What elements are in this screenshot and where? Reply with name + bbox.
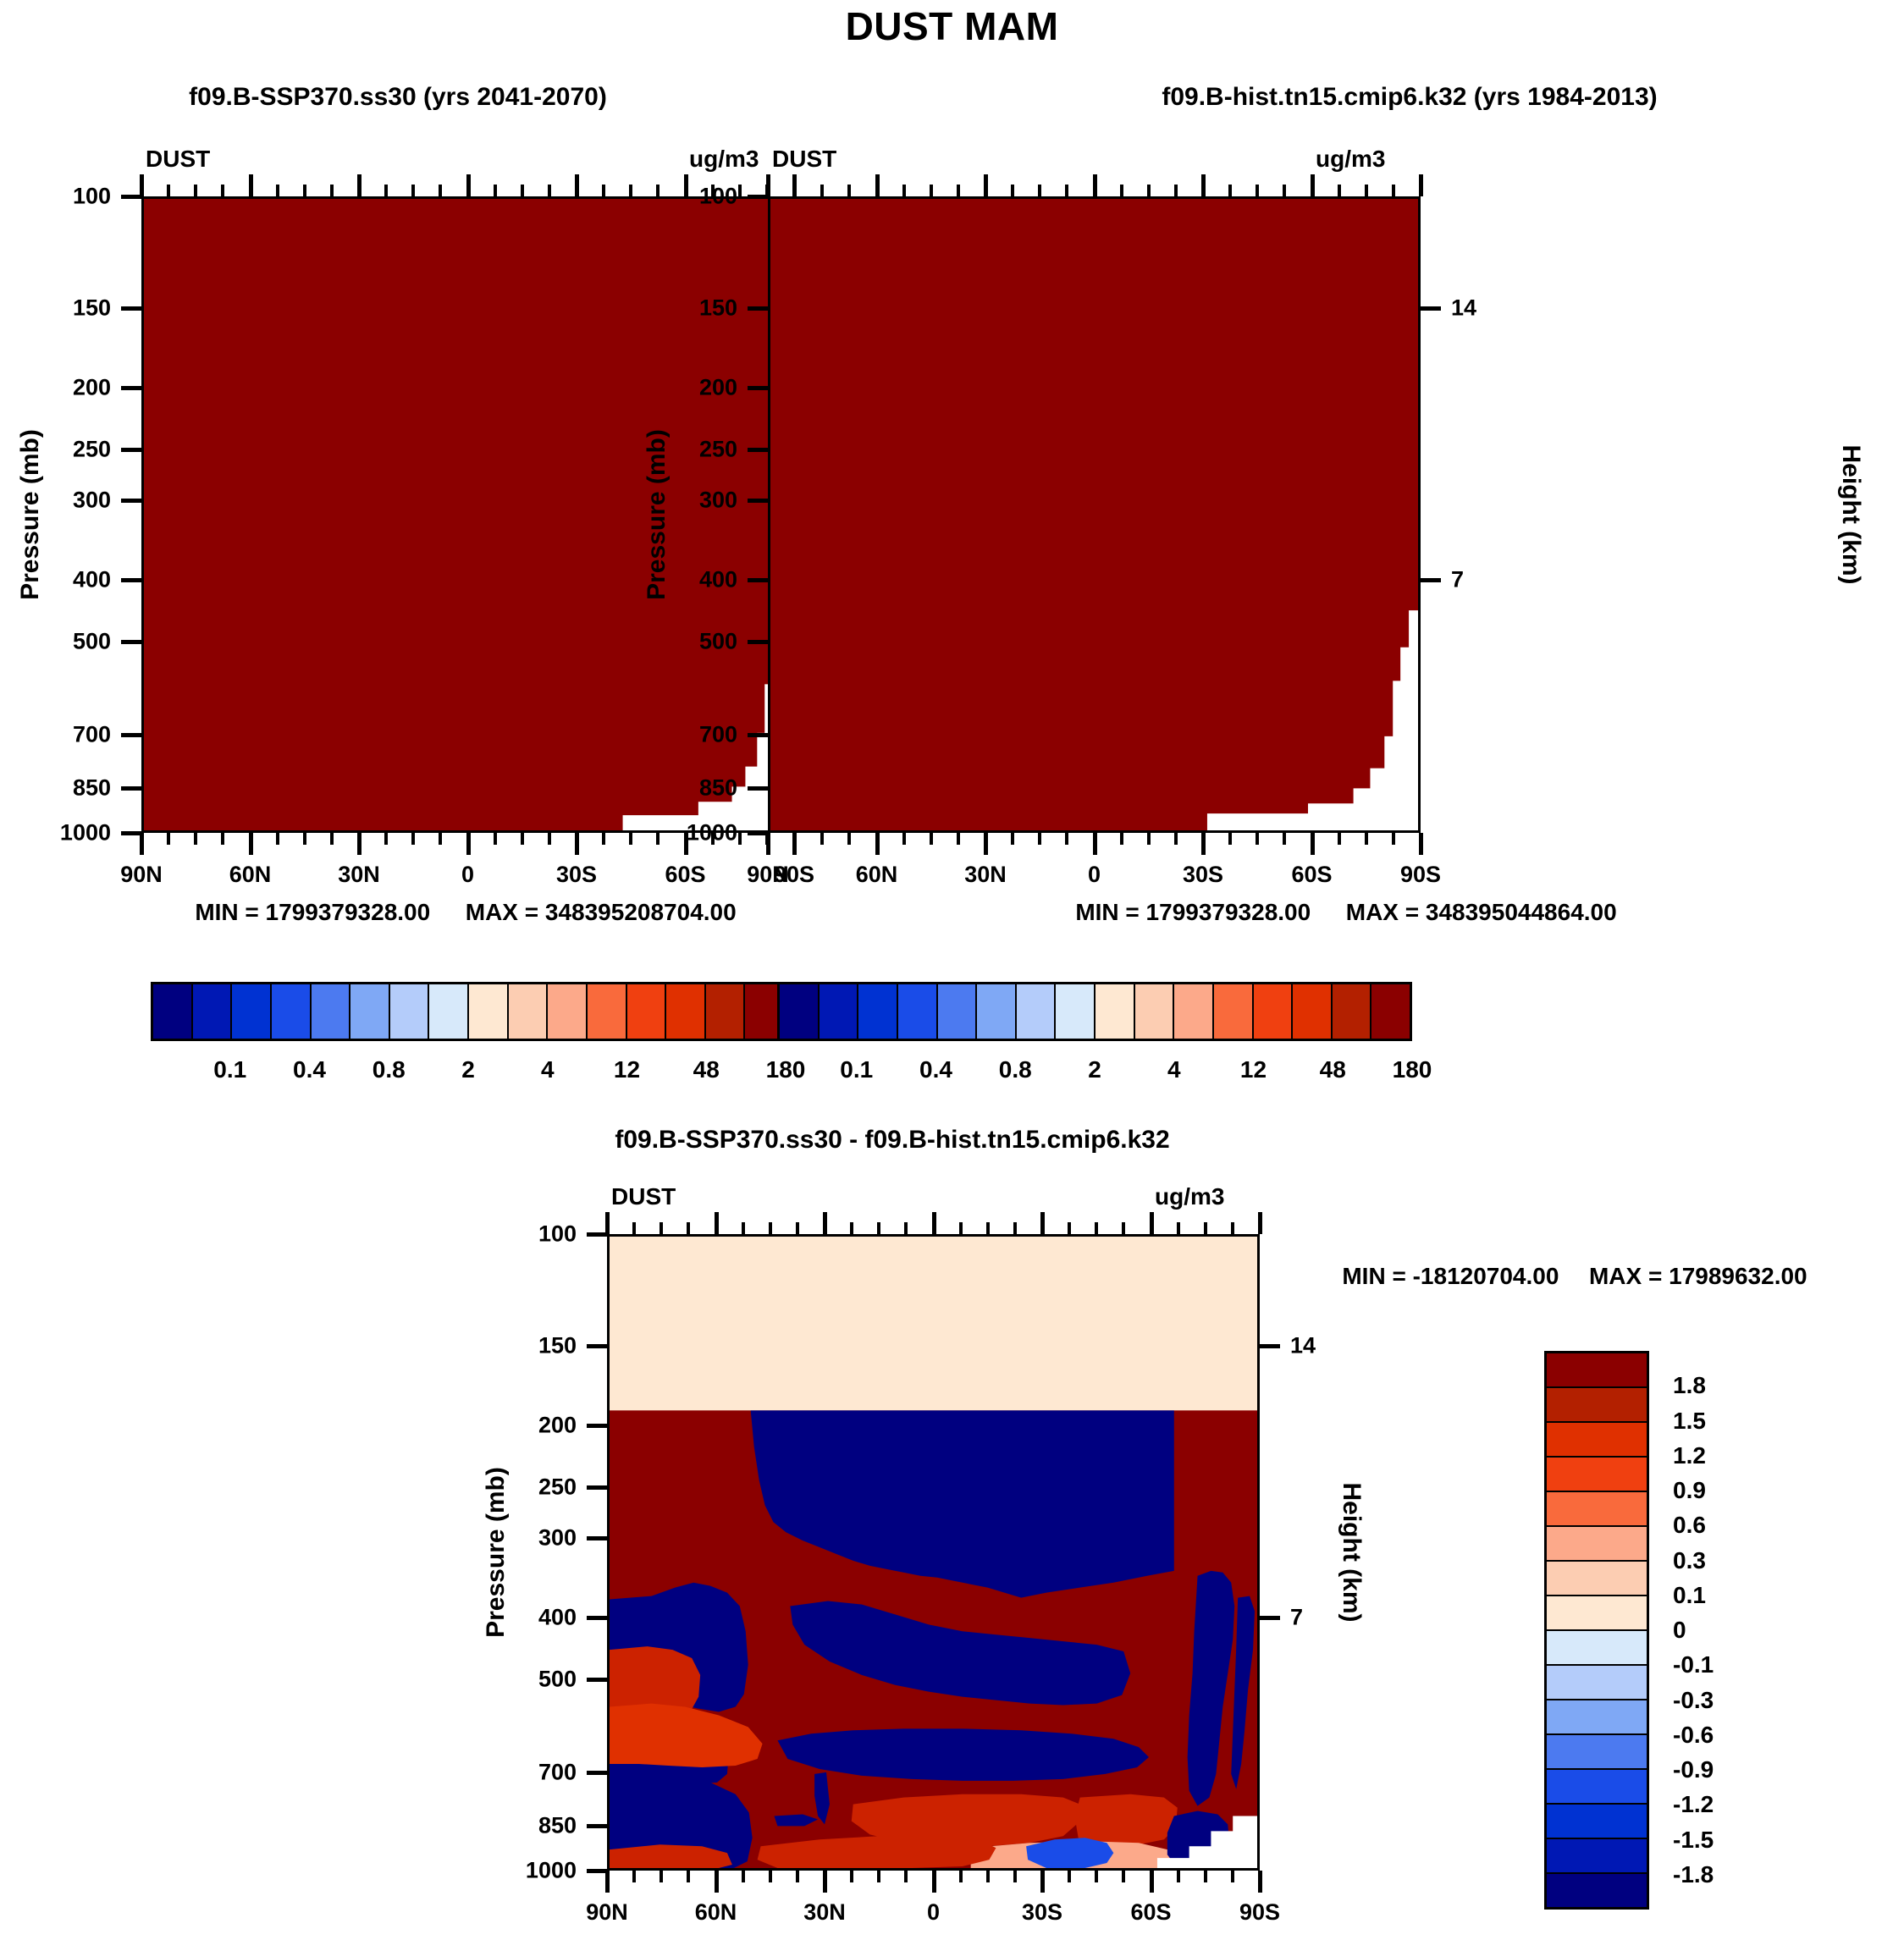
panel-control-lat-minor-tick — [847, 833, 851, 845]
panel-control-lat-minor-tick-top — [1011, 185, 1014, 196]
panel-control-lat-minor-tick-top — [1065, 185, 1068, 196]
panel-control-lat-minor-tick — [1174, 833, 1178, 845]
panel-difference-lat-minor-tick — [769, 1871, 772, 1882]
panel-difference-lat-minor-tick — [986, 1871, 990, 1882]
panel-control-minmax: MIN = 1799379328.00 MAX = 348395044864.0… — [897, 899, 1795, 926]
panel-control-max: MAX = 348395044864.00 — [1346, 899, 1617, 925]
panel-control-colorbar-swatch-6 — [1017, 984, 1057, 1039]
panel-difference-lat-minor-tick — [687, 1871, 690, 1882]
panel-difference-lat-minor-tick — [904, 1871, 908, 1882]
panel-case-lat-minor-tick — [738, 833, 742, 845]
panel-control-lat-tick-30N — [984, 833, 988, 855]
panel-control-colorbar-swatch-1 — [820, 984, 859, 1039]
panel-difference-lat-minor-tick — [1095, 1871, 1098, 1882]
panel-difference-lat-tick-label-90N: 90N — [548, 1899, 666, 1926]
panel-case-lat-minor-tick-top — [494, 185, 497, 196]
panel-difference-lat-minor-tick — [742, 1871, 745, 1882]
panel-control-colorbar-swatch-3 — [898, 984, 938, 1039]
panel-control-lat-tick-60N — [875, 833, 880, 855]
panel-case-colorbar-swatch-9 — [509, 984, 549, 1039]
panel-case-lat-tick-30S — [575, 833, 579, 855]
panel-difference-colorbar-swatch-12 — [1547, 1770, 1647, 1805]
panel-case-colorbar-swatch-4 — [312, 984, 351, 1039]
panel-control-lat-minor-tick — [793, 833, 797, 845]
panel-difference-colorbar-label-1_5: 1.5 — [1673, 1408, 1791, 1435]
panel-case-title: f09.B-SSP370.ss30 (yrs 2041-2070) — [51, 83, 745, 112]
panel-case-min: MIN = 1799379328.00 — [195, 899, 430, 925]
panel-difference-pressure-tick-label-850: 850 — [488, 1812, 577, 1838]
panel-control-pressure-tick-250 — [748, 448, 768, 452]
panel-difference-colorbar-label-0_3: 0.3 — [1673, 1547, 1791, 1574]
panel-case-lat-minor-tick-top — [439, 185, 442, 196]
panel-case-pressure-tick-500 — [121, 640, 141, 644]
panel-case-lat-minor-tick-top — [629, 185, 632, 196]
panel-case-lat-minor-tick-top — [303, 185, 306, 196]
panel-difference-colorbar-swatch-1 — [1547, 1388, 1647, 1423]
panel-difference-lat-minor-tick-top — [742, 1222, 745, 1234]
panel-difference-pressure-tick-label-700: 700 — [488, 1759, 577, 1785]
panel-difference-lat-tick-top-90N — [605, 1212, 610, 1234]
panel-control-lat-tick-label-60S: 60S — [1253, 862, 1371, 888]
panel-case-colorbar-swatch-3 — [272, 984, 312, 1039]
panel-control-field — [770, 199, 1418, 830]
panel-difference-pressure-tick-850 — [587, 1824, 607, 1828]
panel-difference-pressure-tick-300 — [587, 1536, 607, 1540]
panel-control-lat-minor-tick-top — [1038, 185, 1041, 196]
panel-difference-lat-tick-label-60N: 60N — [657, 1899, 775, 1926]
panel-control-colorbar-swatch-4 — [938, 984, 978, 1039]
panel-case-max: MAX = 348395208704.00 — [466, 899, 737, 925]
panel-case-lat-minor-tick — [384, 833, 388, 845]
panel-difference-colorbar-swatch-11 — [1547, 1735, 1647, 1770]
panel-control-lat-minor-tick — [820, 833, 824, 845]
panel-difference-lat-minor-tick-top — [687, 1222, 690, 1234]
panel-control-lat-tick-top-60N — [875, 174, 880, 196]
panel-difference-lat-tick-90S — [1258, 1871, 1262, 1893]
panel-control-title: f09.B-hist.tn15.cmip6.k32 (yrs 1984-2013… — [995, 83, 1824, 112]
panel-control-lat-minor-tick — [1256, 833, 1259, 845]
panel-difference-lat-minor-tick — [1013, 1871, 1017, 1882]
panel-difference-pressure-tick-100 — [587, 1232, 607, 1237]
panel-control-ylabel: Pressure (mb) — [643, 429, 671, 600]
panel-control-pressure-tick-label-200: 200 — [649, 375, 737, 401]
panel-difference-colorbar-swatch-6 — [1547, 1562, 1647, 1596]
panel-control-pressure-tick-700 — [748, 733, 768, 737]
panel-case-lat-tick-top-30S — [575, 174, 579, 196]
panel-difference-colorbar-swatch-4 — [1547, 1492, 1647, 1527]
panel-difference-pressure-tick-label-100: 100 — [488, 1221, 577, 1248]
panel-case-lat-minor-tick-top — [738, 185, 742, 196]
panel-difference-colorbar-label-neg1_5: -1.5 — [1673, 1827, 1791, 1854]
panel-control-pressure-tick-150 — [748, 306, 768, 311]
panel-difference-lat-minor-tick — [1068, 1871, 1071, 1882]
panel-control-colorbar-swatch-5 — [977, 984, 1017, 1039]
panel-control-colorbar-swatch-8 — [1095, 984, 1135, 1039]
panel-difference-colorbar-swatch-7 — [1547, 1596, 1647, 1631]
panel-case-lat-tick-0 — [466, 833, 471, 855]
panel-case-lat-minor-tick — [221, 833, 224, 845]
panel-case-lat-tick-label-60N: 60N — [191, 862, 310, 888]
panel-control-height-tick-7 — [1421, 578, 1441, 582]
panel-control-lat-tick-0 — [1093, 833, 1097, 855]
panel-difference-min: MIN = -18120704.00 — [1342, 1263, 1559, 1289]
panel-control-lat-minor-tick-top — [1365, 185, 1368, 196]
panel-control-height-tick-label-14: 14 — [1451, 295, 1519, 322]
panel-control-pressure-tick-label-500: 500 — [649, 628, 737, 654]
panel-case-colorbar-swatch-12 — [627, 984, 667, 1039]
panel-case-units-label: ug/m3 — [689, 146, 759, 173]
panel-difference-lat-minor-tick-top — [1177, 1222, 1180, 1234]
panel-difference-pressure-tick-250 — [587, 1485, 607, 1490]
panel-difference-colorbar-swatch-5 — [1547, 1527, 1647, 1562]
panel-control-lat-tick-label-0: 0 — [1035, 862, 1154, 888]
panel-case-lat-minor-tick — [330, 833, 334, 845]
panel-difference-colorbar-swatch-15 — [1547, 1874, 1647, 1907]
panel-control-lat-tick-top-90N — [766, 174, 770, 196]
panel-case-lat-minor-tick-top — [384, 185, 388, 196]
panel-case-colorbar-swatch-10 — [548, 984, 588, 1039]
panel-case-pressure-tick-1000 — [121, 831, 141, 835]
panel-case-lat-minor-tick-top — [276, 185, 279, 196]
panel-case-lat-minor-tick — [602, 833, 605, 845]
panel-case-pressure-tick-label-850: 850 — [23, 774, 111, 801]
panel-case-colorbar-swatch-1 — [193, 984, 233, 1039]
panel-case-lat-tick-label-30N: 30N — [300, 862, 418, 888]
panel-control-colorbar-swatch-0 — [780, 984, 820, 1039]
panel-difference-lat-minor-tick-top — [959, 1222, 963, 1234]
panel-case-pressure-tick-label-200: 200 — [23, 375, 111, 401]
panel-control-colorbar-swatch-13 — [1293, 984, 1333, 1039]
panel-difference-colorbar[interactable] — [1544, 1351, 1649, 1910]
panel-control-lat-minor-tick-top — [902, 185, 906, 196]
panel-difference-lat-minor-tick-top — [1013, 1222, 1017, 1234]
panel-case-lat-minor-tick-top — [602, 185, 605, 196]
panel-case-pressure-tick-150 — [121, 306, 141, 311]
panel-difference-pressure-tick-1000 — [587, 1869, 607, 1873]
panel-control-lat-minor-tick-top — [1256, 185, 1259, 196]
panel-control-lat-tick-top-90S — [1419, 174, 1423, 196]
panel-difference-lat-minor-tick-top — [850, 1222, 853, 1234]
panel-case-pressure-tick-700 — [121, 733, 141, 737]
panel-case-lat-tick-90N — [140, 833, 144, 855]
panel-difference-minmax: MIN = -18120704.00 MAX = 17989632.00 — [1304, 1263, 1846, 1290]
panel-control-pressure-tick-400 — [748, 578, 768, 582]
panel-difference-lat-tick-label-60S: 60S — [1092, 1899, 1211, 1926]
panel-case-lat-tick-top-0 — [466, 174, 471, 196]
panel-difference-lat-minor-tick-top — [632, 1222, 636, 1234]
panel-difference-lat-minor-tick — [632, 1871, 636, 1882]
panel-control-pressure-tick-1000 — [748, 831, 768, 835]
panel-difference-lat-minor-tick-top — [986, 1222, 990, 1234]
panel-case-pressure-tick-label-100: 100 — [23, 184, 111, 210]
panel-difference-lat-minor-tick-top — [1204, 1222, 1207, 1234]
panel-case-lat-tick-label-90N: 90N — [82, 862, 201, 888]
panel-difference-pressure-tick-label-1000: 1000 — [488, 1858, 577, 1884]
panel-case-lat-minor-tick — [303, 833, 306, 845]
panel-difference-colorbar-swatch-10 — [1547, 1700, 1647, 1735]
panel-control-lat-minor-tick — [930, 833, 933, 845]
panel-control-lat-tick-label-30S: 30S — [1144, 862, 1262, 888]
panel-difference-lat-tick-top-60N — [715, 1212, 719, 1234]
figure-root: DUST MAM f09.B-SSP370.ss30 (yrs 2041-207… — [0, 0, 1904, 1940]
panel-control-lat-minor-tick — [1065, 833, 1068, 845]
panel-control-pressure-tick-100 — [748, 195, 768, 199]
panel-control-lat-minor-tick — [1038, 833, 1041, 845]
panel-difference-pressure-tick-label-200: 200 — [488, 1413, 577, 1439]
panel-control-lat-tick-90S — [1419, 833, 1423, 855]
panel-case-colorbar-swatch-11 — [588, 984, 627, 1039]
panel-difference-height-tick-7 — [1260, 1616, 1280, 1620]
panel-case-lat-minor-tick-top — [548, 185, 551, 196]
panel-difference-lat-minor-tick-top — [877, 1222, 880, 1234]
panel-difference-lat-minor-tick — [1204, 1871, 1207, 1882]
panel-control-colorbar-swatch-12 — [1254, 984, 1294, 1039]
panel-case-lat-minor-tick — [411, 833, 415, 845]
panel-case-lat-minor-tick-top — [167, 185, 170, 196]
panel-control-lat-tick-30S — [1201, 833, 1206, 855]
panel-difference-colorbar-swatch-3 — [1547, 1458, 1647, 1492]
panel-case-colorbar-swatch-5 — [350, 984, 390, 1039]
panel-difference-colorbar-swatch-9 — [1547, 1666, 1647, 1700]
panel-control-height-tick-14 — [1421, 306, 1441, 311]
panel-difference-lat-tick-label-30S: 30S — [983, 1899, 1101, 1926]
panel-case-variable-label: DUST — [146, 146, 210, 173]
panel-case-lat-minor-tick — [167, 833, 170, 845]
panel-control-plot-area — [768, 196, 1421, 833]
panel-control-lat-minor-tick-top — [847, 185, 851, 196]
panel-control-variable-label: DUST — [772, 146, 836, 173]
panel-case-minmax: MIN = 1799379328.00 MAX = 348395208704.0… — [51, 899, 880, 926]
panel-control-colorbar-swatch-7 — [1056, 984, 1095, 1039]
panel-control-lat-minor-tick-top — [1174, 185, 1178, 196]
panel-control-colorbar-label-180: 180 — [1344, 1056, 1480, 1083]
panel-difference-colorbar-swatch-2 — [1547, 1423, 1647, 1458]
panel-control-lat-tick-top-30N — [984, 174, 988, 196]
panel-case-lat-tick-label-30S: 30S — [517, 862, 636, 888]
panel-case-colorbar-swatch-6 — [390, 984, 430, 1039]
panel-case-pressure-tick-label-1000: 1000 — [23, 820, 111, 846]
panel-difference-colorbar-swatch-14 — [1547, 1839, 1647, 1874]
panel-control-lat-tick-label-60N: 60N — [818, 862, 936, 888]
panel-difference-colorbar-label-1_8: 1.8 — [1673, 1372, 1791, 1399]
panel-control-lat-minor-tick-top — [1392, 185, 1395, 196]
panel-case-lat-minor-tick-top — [330, 185, 334, 196]
panel-case-lat-tick-30N — [357, 833, 361, 855]
panel-case-lat-minor-tick — [521, 833, 524, 845]
panel-difference-colorbar-label-0: 0 — [1673, 1617, 1791, 1644]
panel-difference-pressure-tick-label-500: 500 — [488, 1666, 577, 1692]
panel-difference-units-label: ug/m3 — [1155, 1183, 1224, 1210]
panel-control-colorbar[interactable] — [777, 982, 1412, 1041]
panel-control-pressure-tick-label-150: 150 — [649, 295, 737, 322]
panel-difference-pressure-tick-400 — [587, 1616, 607, 1620]
panel-control-lat-minor-tick-top — [930, 185, 933, 196]
panel-control-lat-tick-top-60S — [1311, 174, 1315, 196]
panel-case-lat-tick-top-90N — [140, 174, 144, 196]
panel-difference-lat-minor-tick-top — [1231, 1222, 1234, 1234]
panel-difference-lat-minor-tick — [1122, 1871, 1125, 1882]
panel-case-lat-minor-tick — [494, 833, 497, 845]
panel-difference-lat-minor-tick-top — [769, 1222, 772, 1234]
panel-control-pressure-tick-label-700: 700 — [649, 721, 737, 747]
panel-control-lat-minor-tick-top — [1283, 185, 1286, 196]
panel-difference-lat-minor-tick — [959, 1871, 963, 1882]
panel-control-lat-tick-60S — [1311, 833, 1315, 855]
panel-case-lat-tick-top-60N — [249, 174, 253, 196]
panel-control-units-label: ug/m3 — [1316, 146, 1385, 173]
panel-control-min: MIN = 1799379328.00 — [1075, 899, 1311, 925]
panel-case-ylabel: Pressure (mb) — [16, 429, 45, 600]
panel-difference-lat-tick-top-60S — [1150, 1212, 1154, 1234]
panel-difference-lat-tick-top-90S — [1258, 1212, 1262, 1234]
panel-difference-lat-tick-top-30N — [823, 1212, 827, 1234]
panel-difference-colorbar-label-neg0_1: -0.1 — [1673, 1651, 1791, 1678]
panel-control-pressure-tick-label-100: 100 — [649, 184, 737, 210]
panel-case-colorbar-swatch-14 — [706, 984, 746, 1039]
panel-difference-lat-minor-tick-top — [796, 1222, 799, 1234]
panel-difference-pressure-tick-500 — [587, 1678, 607, 1682]
panel-control-colorbar-swatch-2 — [858, 984, 898, 1039]
panel-case-lat-minor-tick — [629, 833, 632, 845]
panel-case-pressure-tick-200 — [121, 386, 141, 390]
panel-case-pressure-tick-label-500: 500 — [23, 628, 111, 654]
panel-case-pressure-tick-label-150: 150 — [23, 295, 111, 322]
panel-case-lat-minor-tick — [194, 833, 197, 845]
panel-difference-lat-minor-tick-top — [1095, 1222, 1098, 1234]
panel-case-lat-minor-tick — [439, 833, 442, 845]
panel-control-lat-tick-label-90N: 90N — [709, 862, 827, 888]
panel-control-lat-minor-tick — [1283, 833, 1286, 845]
panel-difference-colorbar-label-neg0_6: -0.6 — [1673, 1722, 1791, 1749]
panel-difference-colorbar-swatch-8 — [1547, 1631, 1647, 1666]
panel-control-lat-tick-90N — [766, 833, 770, 855]
panel-case-lat-tick-top-30N — [357, 174, 361, 196]
panel-difference-field — [610, 1237, 1257, 1868]
panel-difference-lat-minor-tick-top — [1122, 1222, 1125, 1234]
panel-control-lat-minor-tick — [1228, 833, 1232, 845]
panel-difference-colorbar-label-neg0_9: -0.9 — [1673, 1756, 1791, 1783]
panel-control-lat-tick-label-30N: 30N — [926, 862, 1045, 888]
panel-difference-pressure-tick-700 — [587, 1771, 607, 1775]
panel-difference-lat-minor-tick — [1177, 1871, 1180, 1882]
panel-case-lat-tick-label-0: 0 — [409, 862, 527, 888]
panel-case-lat-minor-tick-top — [221, 185, 224, 196]
panel-difference-lat-tick-label-0: 0 — [875, 1899, 993, 1926]
panel-difference-height-tick-14 — [1260, 1344, 1280, 1348]
panel-difference-lat-tick-60N — [715, 1871, 719, 1893]
panel-control-pressure-tick-850 — [748, 786, 768, 791]
panel-control-lat-minor-tick-top — [1228, 185, 1232, 196]
panel-difference-colorbar-swatch-13 — [1547, 1805, 1647, 1839]
panel-difference-colorbar-label-0_6: 0.6 — [1673, 1512, 1791, 1539]
panel-control-lat-minor-tick — [1365, 833, 1368, 845]
panel-difference-colorbar-label-0_1: 0.1 — [1673, 1582, 1791, 1609]
panel-case-colorbar-swatch-8 — [469, 984, 509, 1039]
panel-control-colorbar-swatch-14 — [1333, 984, 1372, 1039]
panel-difference-lat-minor-tick — [877, 1871, 880, 1882]
panel-control-lat-minor-tick-top — [1120, 185, 1123, 196]
panel-difference-pressure-tick-label-150: 150 — [488, 1333, 577, 1359]
panel-difference-lat-tick-60S — [1150, 1871, 1154, 1893]
panel-difference-colorbar-label-0_9: 0.9 — [1673, 1477, 1791, 1504]
panel-difference-lat-tick-90N — [605, 1871, 610, 1893]
panel-control-lat-tick-label-90S: 90S — [1361, 862, 1480, 888]
panel-control-lat-minor-tick-top — [957, 185, 960, 196]
panel-case-colorbar-swatch-2 — [232, 984, 272, 1039]
panel-case-lat-minor-tick-top — [521, 185, 524, 196]
panel-control-pressure-tick-label-850: 850 — [649, 774, 737, 801]
panel-difference-lat-tick-30N — [823, 1871, 827, 1893]
panel-difference-colorbar-label-neg0_3: -0.3 — [1673, 1687, 1791, 1714]
panel-control-pressure-tick-500 — [748, 640, 768, 644]
panel-control-y2label: Height (km) — [1836, 445, 1865, 585]
panel-control-pressure-tick-label-1000: 1000 — [649, 820, 737, 846]
panel-control-lat-tick-top-30S — [1201, 174, 1206, 196]
panel-difference-max: MAX = 17989632.00 — [1589, 1263, 1807, 1289]
panel-difference-colorbar-label-neg1_8: -1.8 — [1673, 1861, 1791, 1888]
panel-difference-colorbar-label-neg1_2: -1.2 — [1673, 1791, 1791, 1818]
panel-control-colorbar-swatch-9 — [1135, 984, 1175, 1039]
panel-case-lat-minor-tick — [276, 833, 279, 845]
panel-difference-lat-tick-0 — [932, 1871, 936, 1893]
panel-case-pressure-tick-400 — [121, 578, 141, 582]
panel-difference-lat-tick-top-0 — [932, 1212, 936, 1234]
panel-difference-lat-minor-tick — [660, 1871, 663, 1882]
panel-control-lat-minor-tick-top — [1338, 185, 1341, 196]
panel-case-lat-tick-60N — [249, 833, 253, 855]
panel-case-colorbar[interactable] — [151, 982, 786, 1041]
panel-difference-pressure-tick-200 — [587, 1424, 607, 1428]
panel-control-lat-minor-tick — [1147, 833, 1151, 845]
panel-case-pressure-tick-250 — [121, 448, 141, 452]
panel-difference-pressure-tick-150 — [587, 1344, 607, 1348]
panel-control-pressure-tick-300 — [748, 499, 768, 503]
panel-control-lat-minor-tick-top — [820, 185, 824, 196]
panel-difference-lat-minor-tick-top — [1068, 1222, 1071, 1234]
panel-control-lat-minor-tick — [1120, 833, 1123, 845]
panel-control-lat-minor-tick — [1338, 833, 1341, 845]
panel-case-colorbar-swatch-7 — [429, 984, 469, 1039]
panel-case-colorbar-swatch-0 — [153, 984, 193, 1039]
panel-difference-lat-minor-tick-top — [904, 1222, 908, 1234]
figure-title: DUST MAM — [0, 3, 1904, 49]
panel-case-lat-minor-tick-top — [194, 185, 197, 196]
panel-control-colorbar-swatch-10 — [1174, 984, 1214, 1039]
panel-difference-lat-minor-tick-top — [660, 1222, 663, 1234]
panel-control-lat-minor-tick — [902, 833, 906, 845]
panel-case-colorbar-swatch-13 — [666, 984, 706, 1039]
panel-difference-lat-tick-label-90S: 90S — [1200, 1899, 1319, 1926]
panel-control-colorbar-swatch-11 — [1214, 984, 1254, 1039]
panel-control-lat-minor-tick — [1011, 833, 1014, 845]
panel-case-pressure-tick-850 — [121, 786, 141, 791]
panel-difference-variable-label: DUST — [611, 1183, 676, 1210]
panel-difference-lat-tick-30S — [1040, 1871, 1045, 1893]
panel-case-pressure-tick-300 — [121, 499, 141, 503]
panel-difference-lat-tick-top-30S — [1040, 1212, 1045, 1234]
panel-case-lat-minor-tick — [548, 833, 551, 845]
panel-difference-plot-area — [607, 1234, 1260, 1871]
panel-case-lat-minor-tick-top — [411, 185, 415, 196]
panel-control-lat-tick-top-0 — [1093, 174, 1097, 196]
panel-difference-title: f09.B-SSP370.ss30 - f09.B-hist.tn15.cmip… — [401, 1126, 1383, 1155]
panel-control-colorbar-swatch-15 — [1371, 984, 1410, 1039]
panel-control-lat-minor-tick — [957, 833, 960, 845]
panel-control-pressure-tick-200 — [748, 386, 768, 390]
panel-control-height-tick-label-7: 7 — [1451, 566, 1519, 592]
panel-difference-ylabel: Pressure (mb) — [482, 1467, 510, 1638]
panel-difference-colorbar-swatch-0 — [1547, 1353, 1647, 1388]
